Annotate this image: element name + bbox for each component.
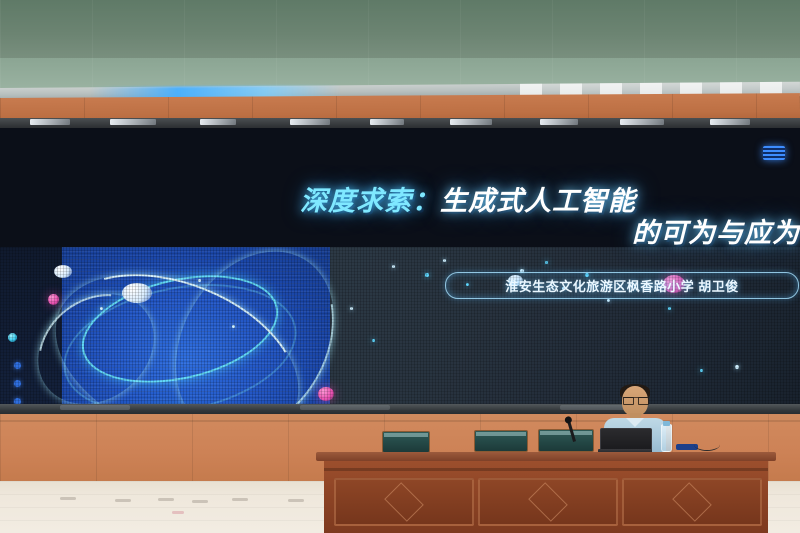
chair-left-highlight <box>384 433 428 437</box>
podium-panel-1 <box>334 478 474 526</box>
floor-scuff-4 <box>192 500 208 503</box>
bezel-hl-1 <box>30 119 70 125</box>
ceiling-seams <box>0 0 800 96</box>
screen-top-bezel <box>0 118 800 128</box>
podium-desk <box>320 452 772 533</box>
bezel-hl-4 <box>290 119 330 125</box>
bezel-bot-hl-1 <box>60 405 130 410</box>
bezel-bot-hl-2 <box>300 405 390 410</box>
floor-scuff-3 <box>158 498 174 501</box>
floor-scuff-6 <box>288 499 304 502</box>
desk-cable <box>694 438 720 451</box>
podium-diamond-2 <box>528 482 568 522</box>
glasses-lens-left <box>623 397 634 405</box>
slide-title-rest: 生成式人工智能 <box>440 186 636 216</box>
bezel-hl-9 <box>710 119 750 125</box>
podium-panel-2 <box>478 478 618 526</box>
bezel-hl-8 <box>620 119 664 125</box>
bezel-hl-6 <box>450 119 492 125</box>
podium-panel-3 <box>622 478 762 526</box>
menu-icon <box>763 146 785 160</box>
floor-scuff-2 <box>115 499 131 502</box>
glasses-lens-right <box>638 397 649 405</box>
presenter-pill: 淮安生态文化旅游区枫香路小学 胡卫俊 <box>445 272 799 299</box>
chair-left <box>382 431 430 453</box>
podium-diamond-1 <box>384 482 424 522</box>
floor-scuff-1 <box>60 497 76 500</box>
slide-title-highlight: 深度求索： <box>300 186 440 216</box>
chair-center <box>474 430 528 452</box>
water-bottle <box>661 424 672 452</box>
laptop <box>598 428 652 454</box>
bezel-hl-3 <box>200 119 236 125</box>
chair-center-highlight <box>476 432 526 436</box>
podium-diamond-3 <box>672 482 712 522</box>
slide-title-line1: 深度求索：生成式人工智能 <box>300 186 800 216</box>
podium-top-surface <box>316 452 776 461</box>
bezel-hl-7 <box>540 119 578 125</box>
screenshot-root: 深度求索：生成式人工智能 的可为与应为 淮安生态文化旅游区枫香路小学 胡卫俊 <box>0 0 800 533</box>
floor-mark-pink <box>172 511 184 514</box>
floor-scuff-5 <box>232 498 248 501</box>
bezel-hl-5 <box>370 119 404 125</box>
led-screen: 深度求索：生成式人工智能 的可为与应为 淮安生态文化旅游区枫香路小学 胡卫俊 <box>0 120 800 416</box>
chair-right <box>538 429 594 452</box>
slide-title-line2: 的可为与应为 <box>300 218 800 248</box>
chair-right-highlight <box>540 431 592 435</box>
bottle-cap <box>663 421 670 426</box>
bezel-hl-2 <box>110 119 156 125</box>
slide-title: 深度求索：生成式人工智能 的可为与应为 <box>300 186 800 248</box>
presenter-pill-text: 淮安生态文化旅游区枫香路小学 胡卫俊 <box>505 276 739 295</box>
glasses-icon <box>623 397 647 404</box>
podium-rail <box>324 468 768 471</box>
